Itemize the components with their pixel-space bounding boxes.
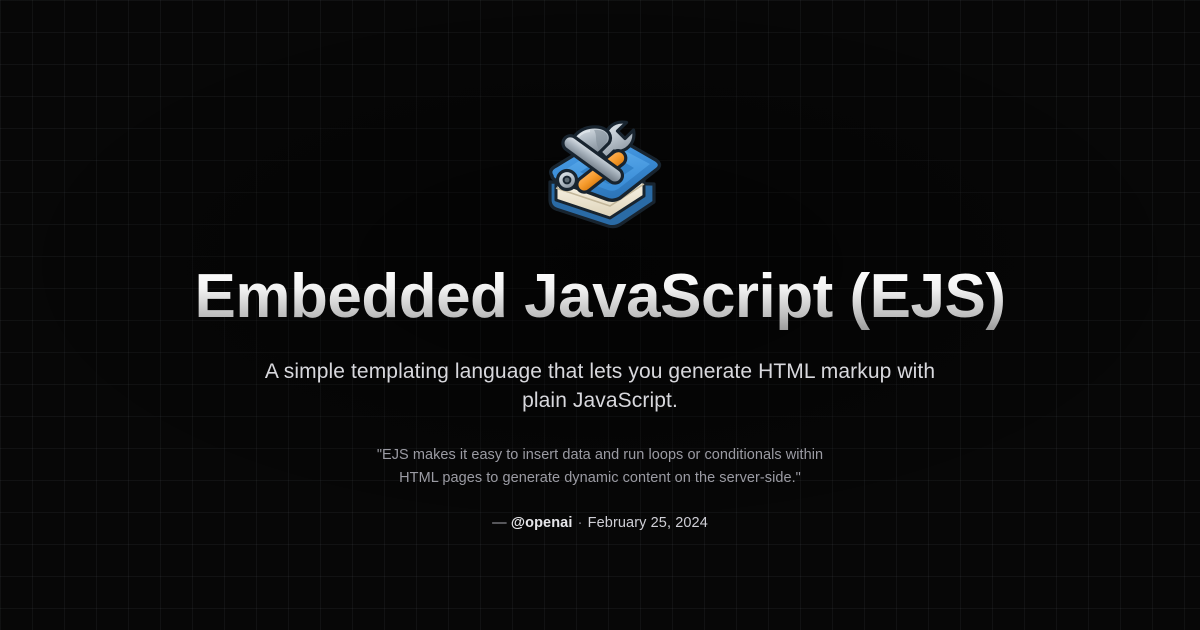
attribution-separator: · [577, 515, 584, 531]
attribution-dash: — [492, 515, 507, 531]
attribution-date: February 25, 2024 [588, 515, 708, 531]
card-content: Embedded JavaScript (EJS) A simple templ… [0, 0, 1200, 630]
social-card: Embedded JavaScript (EJS) A simple templ… [0, 0, 1200, 630]
book-and-tools-icon [536, 112, 664, 230]
page-title: Embedded JavaScript (EJS) [171, 264, 1030, 336]
attribution-handle[interactable]: @openai [511, 515, 573, 531]
quote-text: "EJS makes it easy to insert data and ru… [375, 444, 825, 491]
attribution: — @openai · February 25, 2024 [492, 515, 708, 531]
page-subtitle: A simple templating language that lets y… [260, 358, 940, 416]
